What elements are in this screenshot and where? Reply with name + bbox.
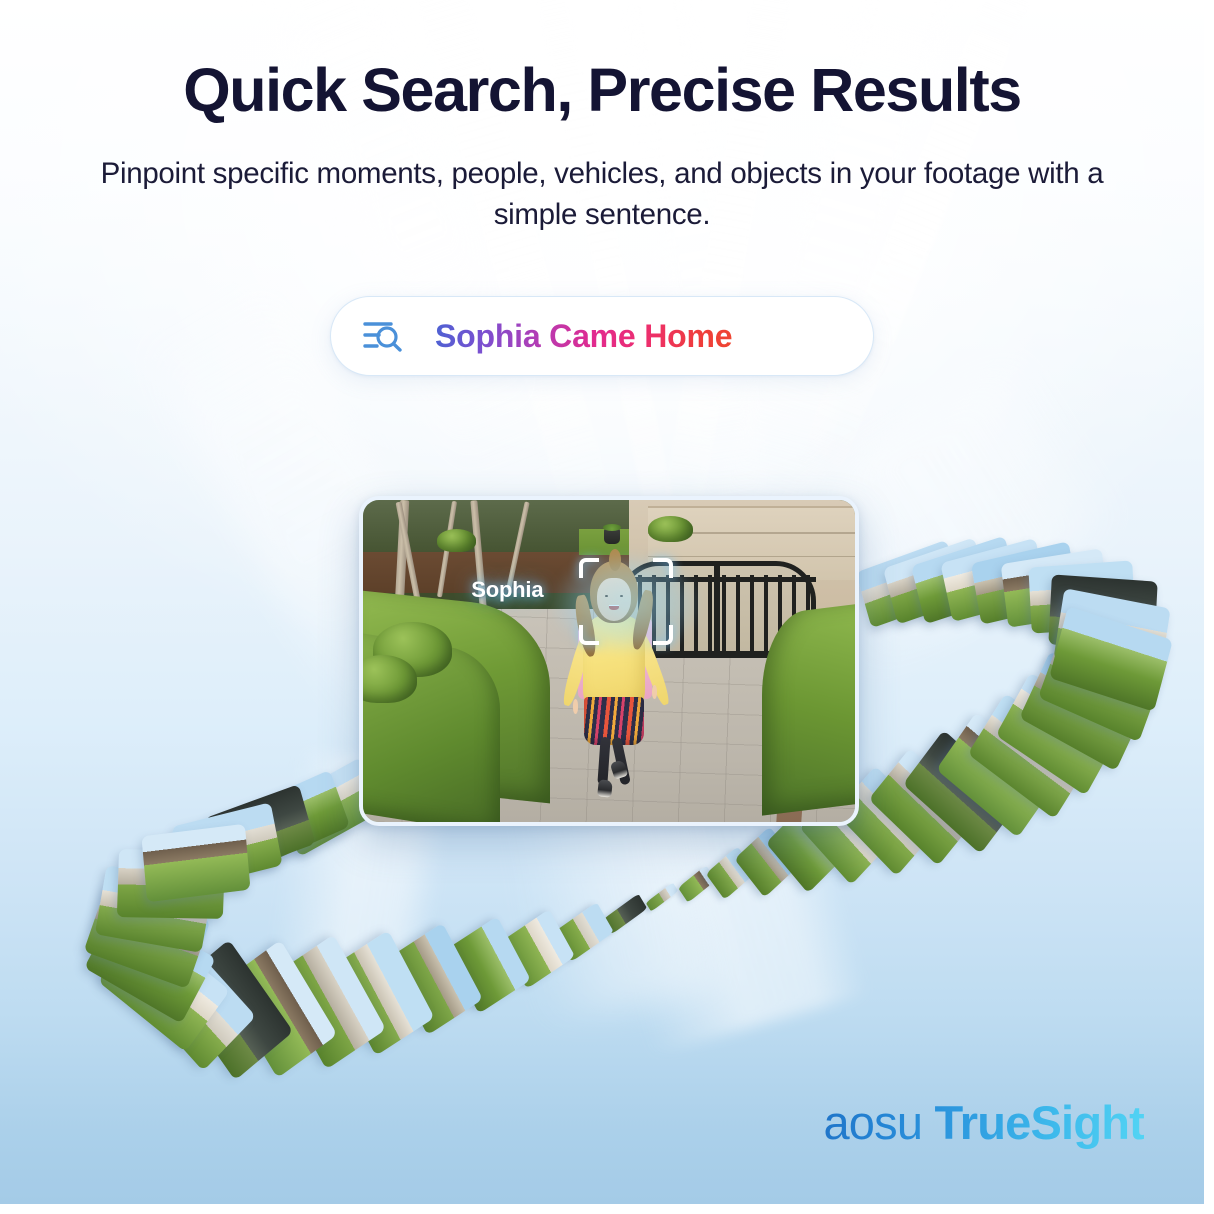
spiral-thumbnail [1019, 651, 1147, 772]
header-block: Quick Search, Precise Results Pinpoint s… [0, 0, 1204, 235]
spiral-thumbnail [1048, 574, 1157, 651]
shoe-left [597, 780, 613, 798]
spiral-thumbnail [856, 540, 962, 629]
page-title: Quick Search, Precise Results [0, 58, 1204, 124]
camera-feed-scene: Sophia [363, 500, 855, 822]
spiral-thumbnail [971, 541, 1079, 625]
spiral-thumbnail [501, 909, 575, 989]
spiral-thumbnail [204, 784, 315, 878]
spiral-thumbnail [936, 712, 1058, 838]
bracket-corner-bottom-left [579, 625, 599, 645]
spiral-thumbnail [141, 824, 250, 902]
brand-name: TrueSight [934, 1096, 1144, 1149]
spiral-thumbnail [734, 826, 799, 897]
spiral-thumbnail [171, 802, 282, 890]
brand-logo: aosu TrueSight [823, 1095, 1144, 1150]
leg-left [597, 737, 610, 785]
gate-center-post [714, 561, 720, 658]
spiral-thumbnail [445, 916, 531, 1013]
spiral-thumbnail [240, 770, 350, 866]
hedge-right [762, 603, 855, 816]
spiral-thumbnail [869, 748, 980, 866]
spiral-thumbnail [1049, 606, 1173, 712]
spiral-thumbnail [117, 849, 225, 919]
spiral-thumbnail [98, 920, 230, 1052]
spiral-thumbnail [968, 693, 1093, 819]
bush [648, 516, 692, 542]
artwork-canvas: Quick Search, Precise Results Pinpoint s… [0, 0, 1204, 1204]
bracket-corner-top-left [579, 558, 599, 578]
spiral-thumbnail [274, 934, 386, 1069]
spiral-thumbnail [95, 865, 214, 953]
brand-spacer [922, 1096, 934, 1149]
bracket-corner-top-right [653, 558, 673, 578]
spiral-thumbnail [221, 940, 338, 1078]
spiral-thumbnail [903, 730, 1022, 854]
spiral-thumbnail [646, 882, 679, 911]
spiral-thumbnail [883, 537, 989, 624]
spiral-thumbnail [128, 933, 256, 1071]
camera-feed-card[interactable]: Sophia [359, 496, 859, 826]
bracket-corner-bottom-right [653, 625, 673, 645]
spiral-thumbnail [911, 536, 1019, 625]
page-subtitle: Pinpoint specific moments, people, vehic… [97, 154, 1107, 235]
potted-plant [604, 529, 620, 544]
detection-name-label: Sophia [471, 577, 543, 603]
spiral-thumbnail [706, 846, 757, 900]
search-input-value[interactable]: Sophia Came Home [435, 318, 732, 355]
spiral-thumbnail [171, 940, 294, 1081]
spiral-thumbnail [603, 894, 648, 935]
spiral-thumbnail [1028, 560, 1135, 633]
spiral-thumbnail [1001, 548, 1110, 627]
spiral-thumbnail [554, 902, 614, 962]
spiral-thumbnail [996, 672, 1121, 796]
spiral-thumbnail [1038, 628, 1164, 742]
spiral-thumbnail [387, 923, 483, 1035]
search-bar[interactable]: Sophia Came Home [330, 296, 874, 376]
promo-graphic: Quick Search, Precise Results Pinpoint s… [0, 0, 1214, 1214]
spiral-thumbnail [940, 538, 1047, 622]
spiral-thumbnail [84, 902, 216, 1023]
bush [437, 529, 476, 552]
spiral-thumbnail [1053, 588, 1170, 680]
list-search-icon [361, 316, 405, 356]
face-detect-bracket [579, 558, 672, 645]
brand-prefix: aosu [823, 1096, 922, 1149]
hand-left [573, 699, 579, 713]
spiral-thumbnail [678, 865, 716, 903]
spiral-thumbnail [329, 930, 434, 1056]
spiral-thumbnail [84, 883, 211, 989]
